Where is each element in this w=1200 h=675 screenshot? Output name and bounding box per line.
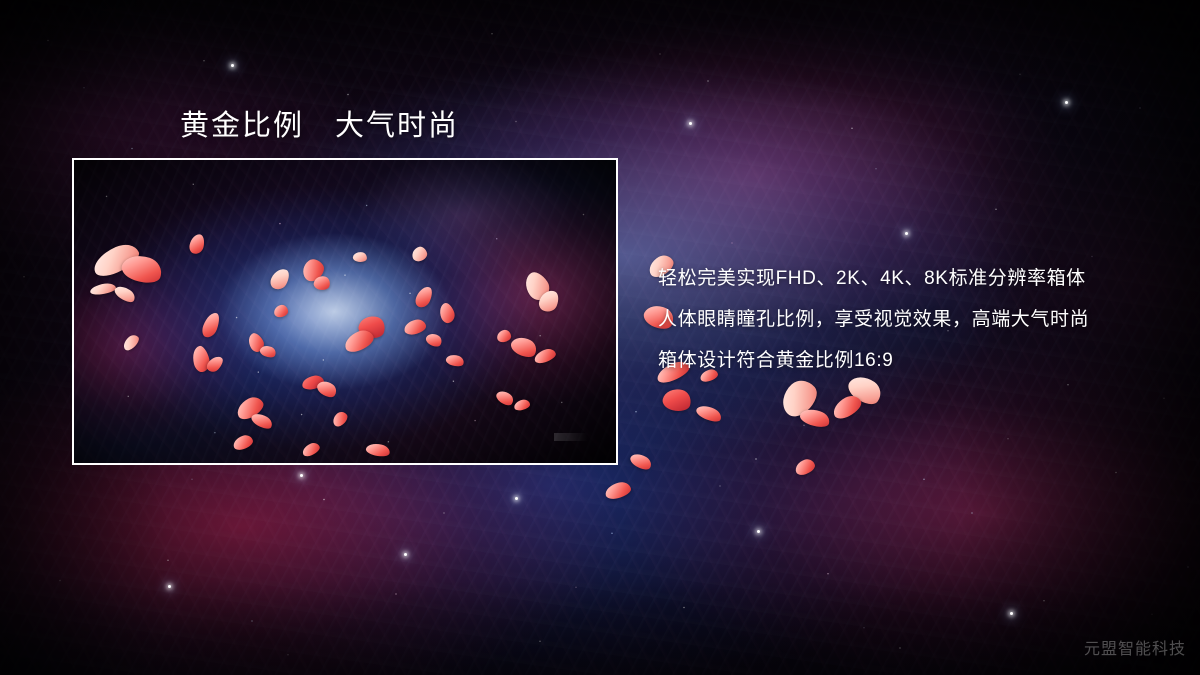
bright-star <box>300 474 303 477</box>
copy-line-2: 人体眼睛瞳孔比例，享受视觉效果，高端大气时尚 <box>658 299 1178 340</box>
framed-image-panel <box>72 158 618 465</box>
watermark-text: 元盟智能科技 <box>1084 635 1186 659</box>
bright-star <box>515 497 518 500</box>
bright-star <box>404 553 407 556</box>
bright-star <box>1065 101 1068 104</box>
bright-star <box>905 232 908 235</box>
body-copy-block: 轻松完美实现FHD、2K、4K、8K标准分辨率箱体 人体眼睛瞳孔比例，享受视觉效… <box>658 258 1178 381</box>
bright-star <box>168 585 171 588</box>
bright-star <box>1010 612 1013 615</box>
bright-star <box>757 530 760 533</box>
presentation-slide: 黄金比例 大气时尚 <box>0 0 1200 675</box>
slide-title: 黄金比例 大气时尚 <box>180 102 459 144</box>
bright-star <box>689 122 692 125</box>
bright-star <box>231 64 234 67</box>
photo-signature-mark <box>554 433 588 441</box>
copy-line-1: 轻松完美实现FHD、2K、4K、8K标准分辨率箱体 <box>658 258 1178 299</box>
copy-line-3: 箱体设计符合黄金比例16:9 <box>658 340 1178 381</box>
